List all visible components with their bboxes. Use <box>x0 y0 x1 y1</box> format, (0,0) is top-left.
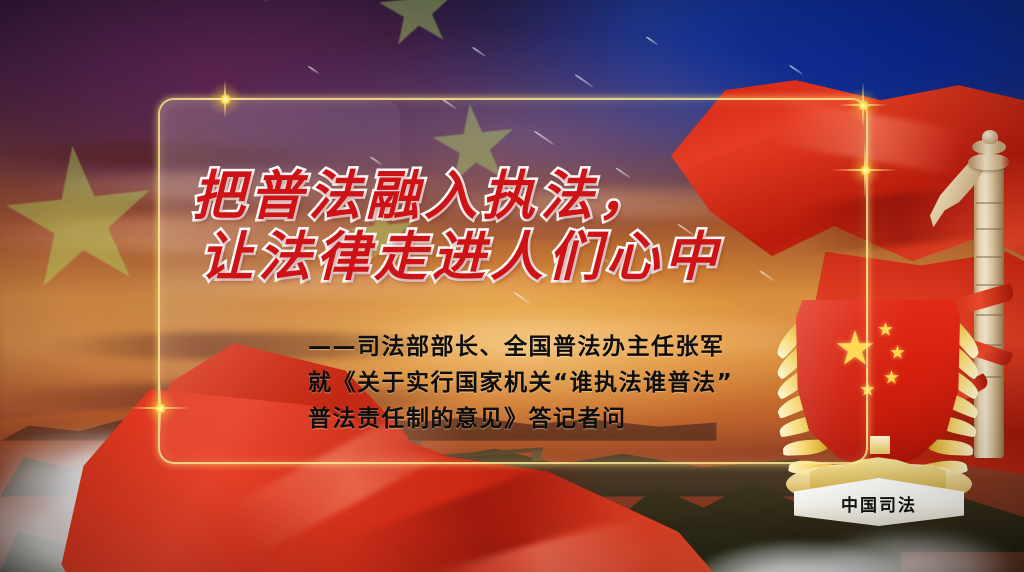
poster-title: 把普法融入执法， 让法律走进人们心中 <box>192 166 712 289</box>
emblem-banner-text: 中国司法 <box>794 491 964 516</box>
huabiao-carving <box>976 256 1002 258</box>
title-line-1: 把普法融入执法， <box>192 166 712 227</box>
huabiao-finial <box>982 130 998 144</box>
subtitle-line-1: ——司法部部长、全国普法办主任张军 <box>308 330 868 366</box>
poster-subtitle: ——司法部部长、全国普法办主任张军 就《关于实行国家机关“谁执法谁普法” 普法责… <box>308 330 868 438</box>
flag-star-large <box>0 138 163 303</box>
huabiao-cap <box>968 154 1010 170</box>
poster-canvas: 中国司法 把普法融入执法， 让法律走进人们心中 ——司法部部长、全国普法办主任张… <box>0 0 1024 572</box>
huabiao-carving <box>976 228 1002 230</box>
title-line-2: 让法律走进人们心中 <box>200 227 712 288</box>
huabiao-carving <box>976 202 1002 204</box>
flag-star-small <box>375 0 461 53</box>
emblem-wall-tower <box>870 436 890 454</box>
subtitle-line-3: 普法责任制的意见》答记者问 <box>308 402 868 438</box>
subtitle-line-2: 就《关于实行国家机关“谁执法谁普法” <box>308 366 868 402</box>
